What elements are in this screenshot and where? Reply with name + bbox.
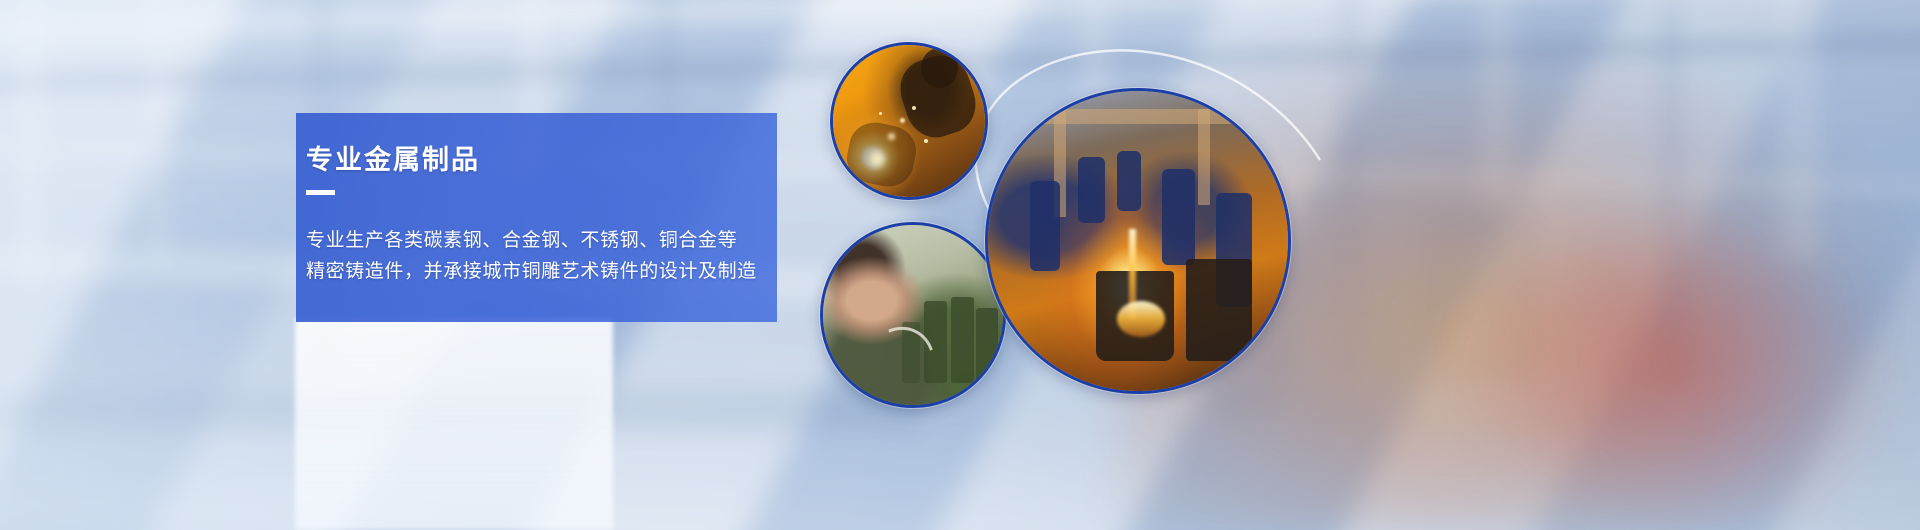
hero-banner: 专业金属制品 专业生产各类碳素钢、合金钢、不锈钢、铜合金等 精密铸造件，并承接城…: [0, 0, 1920, 530]
panel-description-line-1: 专业生产各类碳素钢、合金钢、不锈钢、铜合金等: [296, 225, 816, 256]
background-white-panel: [295, 318, 613, 530]
panel-description: 专业生产各类碳素钢、合金钢、不锈钢、铜合金等 精密铸造件，并承接城市铜雕艺术铸件…: [296, 225, 816, 287]
panel-description-line-2: 精密铸造件，并承接城市铜雕艺术铸件的设计及制造: [296, 256, 816, 287]
foundry-photo-medallion: [985, 88, 1291, 394]
welding-photo-medallion: [830, 42, 988, 200]
page-title: 专业金属制品: [306, 138, 480, 177]
title-divider: [306, 190, 335, 195]
technician-photo-medallion: [820, 222, 1006, 408]
